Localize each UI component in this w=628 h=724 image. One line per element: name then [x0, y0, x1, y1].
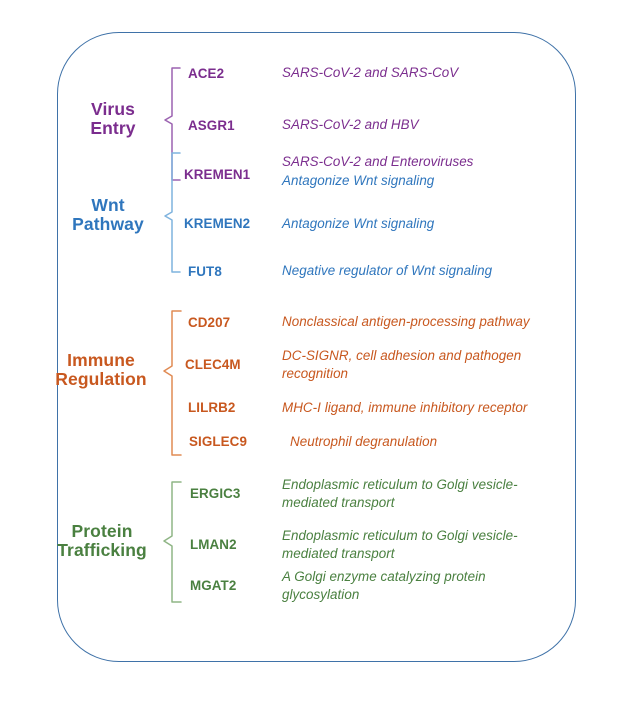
gene-label-lman2: LMAN2 — [190, 537, 237, 552]
gene-label-mgat2: MGAT2 — [190, 578, 236, 593]
description-kremen1-virus: SARS-CoV-2 and Enteroviruses — [282, 153, 572, 171]
description-kremen1-wnt: Antagonize Wnt signaling — [282, 172, 572, 190]
description-ergic3: Endoplasmic reticulum to Golgi vesicle-m… — [282, 476, 547, 511]
gene-category-diagram: Virus Entry Wnt Pathway Immune Regulatio… — [0, 0, 628, 724]
description-fut8: Negative regulator of Wnt signaling — [282, 262, 582, 280]
gene-label-lilrb2: LILRB2 — [188, 400, 235, 415]
group-label-immune-regulation: Immune Regulation — [37, 351, 165, 389]
gene-label-asgr1: ASGR1 — [188, 118, 235, 133]
gene-label-kremen2: KREMEN2 — [184, 216, 250, 231]
description-lman2: Endoplasmic reticulum to Golgi vesicle-m… — [282, 527, 547, 562]
description-ace2: SARS-CoV-2 and SARS-CoV — [282, 64, 562, 82]
description-mgat2: A Golgi enzyme catalyzing protein glycos… — [282, 568, 522, 603]
group-label-wnt-pathway: Wnt Pathway — [53, 196, 163, 234]
gene-label-cd207: CD207 — [188, 315, 230, 330]
gene-label-kremen1: KREMEN1 — [184, 167, 250, 182]
group-label-protein-trafficking: Protein Trafficking — [39, 522, 165, 560]
description-clec4m: DC-SIGNR, cell adhesion and pathogen rec… — [282, 347, 540, 382]
description-cd207: Nonclassical antigen-processing pathway — [282, 313, 582, 331]
gene-label-clec4m: CLEC4M — [185, 357, 241, 372]
description-lilrb2: MHC-I ligand, immune inhibitory receptor — [282, 399, 582, 417]
gene-label-fut8: FUT8 — [188, 264, 222, 279]
gene-label-ace2: ACE2 — [188, 66, 224, 81]
description-asgr1: SARS-CoV-2 and HBV — [282, 116, 562, 134]
description-kremen2: Antagonize Wnt signaling — [282, 215, 572, 233]
gene-label-siglec9: SIGLEC9 — [189, 434, 247, 449]
description-siglec9: Neutrophil degranulation — [290, 433, 580, 451]
group-label-virus-entry: Virus Entry — [63, 100, 163, 138]
gene-label-ergic3: ERGIC3 — [190, 486, 240, 501]
